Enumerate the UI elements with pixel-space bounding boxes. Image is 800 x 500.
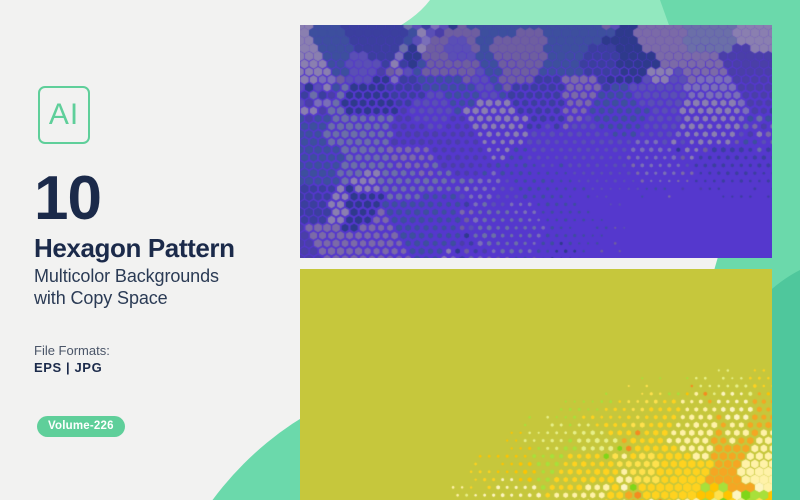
purple-hexagon-canvas — [300, 25, 772, 258]
subtitle-line-2: with Copy Space — [34, 288, 294, 310]
info-column: AI 10 Hexagon Pattern Multicolor Backgro… — [0, 0, 300, 500]
volume-badge: Volume-226 — [37, 416, 125, 437]
poster-canvas: AI 10 Hexagon Pattern Multicolor Backgro… — [0, 0, 800, 500]
yellow-hexagon-preview[interactable] — [300, 269, 772, 500]
subtitle-line-1: Multicolor Backgrounds — [34, 266, 294, 288]
yellow-hexagon-canvas — [300, 269, 772, 500]
file-formats-value: EPS | JPG — [34, 360, 102, 375]
page-subtitle: Multicolor Backgrounds with Copy Space — [34, 266, 294, 310]
item-count: 10 — [34, 168, 101, 230]
ai-badge-label: AI — [49, 100, 79, 130]
adobe-illustrator-icon: AI — [38, 86, 90, 144]
page-title: Hexagon Pattern — [34, 235, 235, 262]
file-formats-label: File Formats: — [34, 343, 110, 358]
purple-hexagon-preview[interactable] — [300, 25, 772, 258]
